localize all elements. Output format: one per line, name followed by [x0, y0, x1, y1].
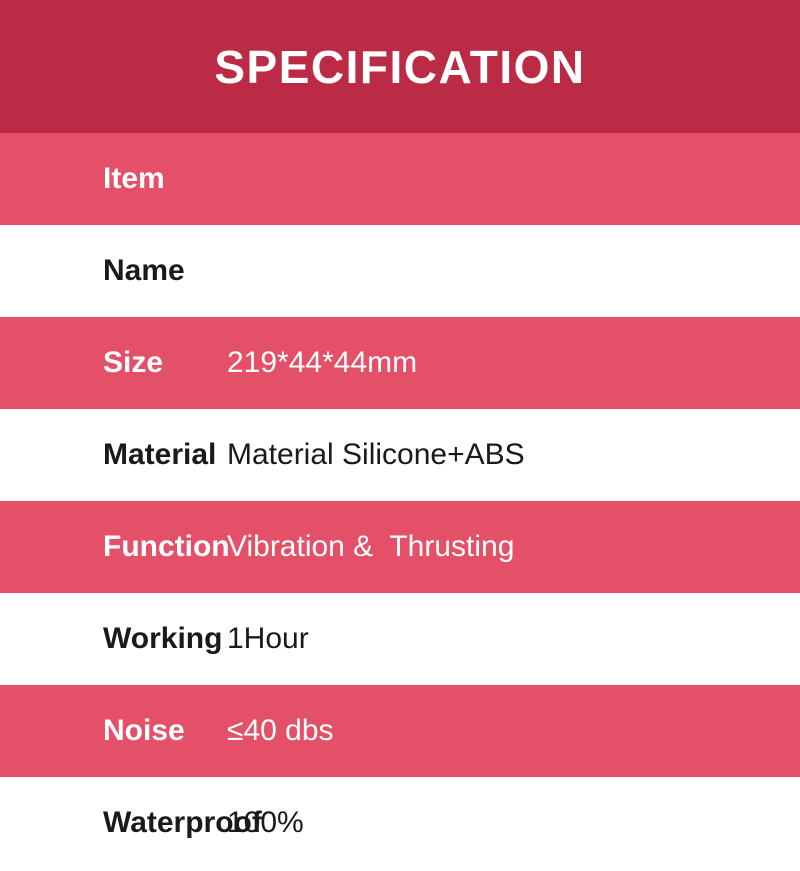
spec-label-noise: Noise — [0, 716, 227, 746]
spec-value-size: 219*44*44mm — [227, 348, 800, 378]
table-row: Noise ≤40 dbs — [0, 685, 800, 777]
specification-sheet: SPECIFICATION Item Name Size 219*44*44mm… — [0, 0, 800, 871]
table-row: Waterproof 100% — [0, 777, 800, 869]
table-row: Size 219*44*44mm — [0, 317, 800, 409]
page-title: SPECIFICATION — [214, 44, 585, 90]
specification-header-banner: SPECIFICATION — [0, 0, 800, 133]
table-row: Working 1Hour — [0, 593, 800, 685]
spec-label-item: Item — [0, 164, 227, 194]
spec-value-noise: ≤40 dbs — [227, 716, 800, 746]
table-row: Name — [0, 225, 800, 317]
spec-value-function: Vibration & Thrusting — [227, 532, 800, 562]
spec-value-working: 1Hour — [227, 624, 800, 654]
spec-label-waterproof: Waterproof — [0, 808, 227, 838]
spec-value-waterproof: 100% — [227, 808, 800, 838]
spec-label-name: Name — [0, 256, 227, 286]
spec-label-function: Function — [0, 532, 227, 562]
specification-table: Item Name Size 219*44*44mm Material Mate… — [0, 133, 800, 871]
spec-label-size: Size — [0, 348, 227, 378]
table-row: Material Material Silicone+ABS — [0, 409, 800, 501]
table-row: Function Vibration & Thrusting — [0, 501, 800, 593]
spec-label-material: Material — [0, 440, 227, 470]
spec-value-material: Material Silicone+ABS — [227, 440, 800, 470]
table-row: Item — [0, 133, 800, 225]
spec-label-working: Working — [0, 624, 227, 654]
